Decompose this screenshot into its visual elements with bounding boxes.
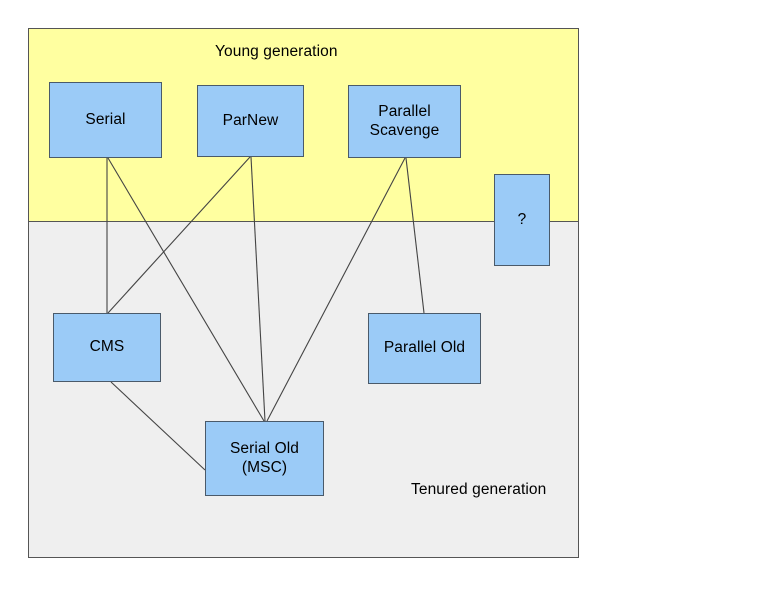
node-parnew[interactable]: ParNew [197,85,304,157]
region-label-young-generation: Young generation [215,43,338,61]
node-serial[interactable]: Serial [49,82,162,158]
node-parnew-label: ParNew [223,112,279,131]
node-cms-label: CMS [90,338,125,357]
node-unknown-question[interactable]: ? [494,174,550,266]
node-serial-old-msc[interactable]: Serial Old (MSC) [205,421,324,496]
node-parallel-scavenge-label: Parallel Scavenge [370,103,440,141]
node-parallel-scavenge[interactable]: Parallel Scavenge [348,85,461,158]
node-cms[interactable]: CMS [53,313,161,382]
node-parallel-old-label: Parallel Old [384,339,465,358]
node-serial-label: Serial [85,111,125,130]
gc-combination-diagram: Young generation Tenured generation Seri… [0,0,776,600]
region-label-tenured-generation: Tenured generation [411,481,546,499]
node-serial-old-msc-label: Serial Old (MSC) [230,440,299,478]
region-tenured-generation [28,221,579,558]
node-unknown-label: ? [518,211,527,230]
node-parallel-old[interactable]: Parallel Old [368,313,481,384]
